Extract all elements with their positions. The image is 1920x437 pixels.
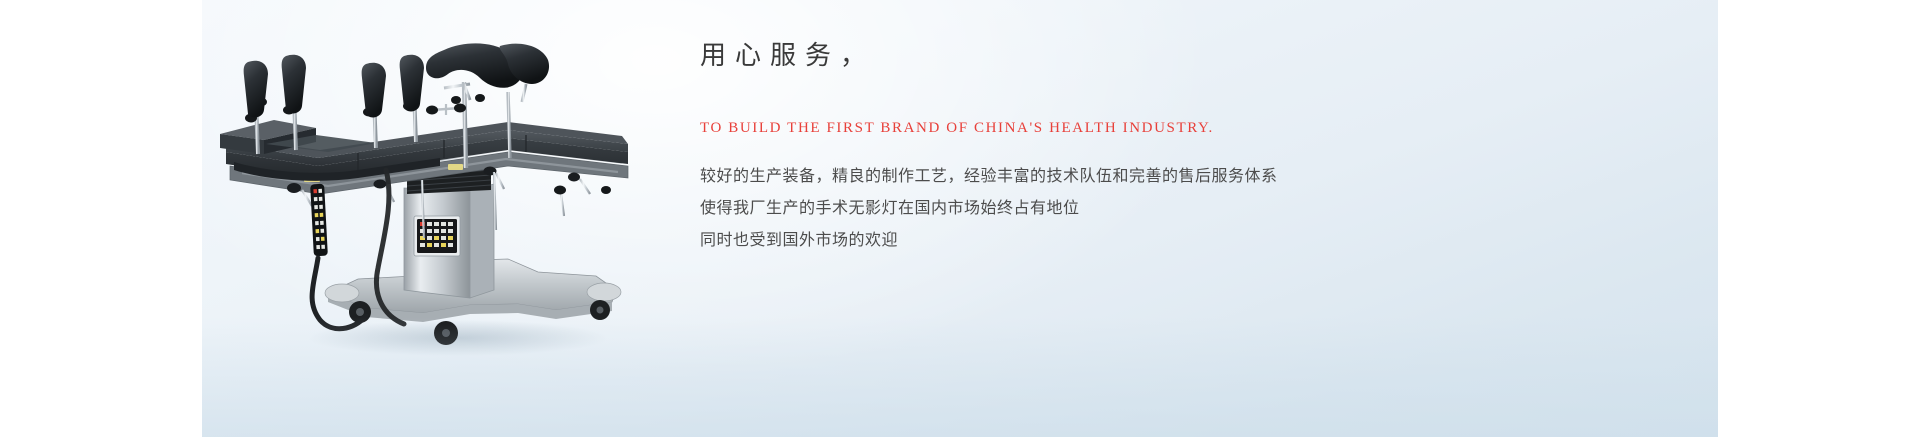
banner-body: 较好的生产装备，精良的制作工艺，经验丰富的技术队伍和完善的售后服务体系 使得我厂… [700,161,1620,257]
table-column [404,160,494,298]
rod-knobs [554,186,611,195]
body-line-3: 同时也受到国外市场的欢迎 [700,225,1620,257]
support-pad [244,61,268,118]
banner-tagline: TO BUILD THE FIRST BRAND OF CHINA'S HEAL… [700,120,1620,137]
support-pad [400,55,424,112]
hero-banner: 用心服务， TO BUILD THE FIRST BRAND OF CHINA'… [202,0,1718,437]
banner-page: 用心服务， TO BUILD THE FIRST BRAND OF CHINA'… [0,0,1920,437]
base-control-panel [414,216,460,256]
body-line-2: 使得我厂生产的手术无影灯在国内市场始终占有地位 [700,193,1620,225]
side-support-pads [244,55,424,118]
banner-copy: 用心服务， TO BUILD THE FIRST BRAND OF CHINA'… [700,40,1620,257]
operating-table-image [208,40,708,360]
leg-holders [426,43,549,102]
caster-wheel [590,300,610,320]
support-pad [282,55,306,114]
body-line-1: 较好的生产装备，精良的制作工艺，经验丰富的技术队伍和完善的售后服务体系 [700,161,1620,193]
knob-assembly [426,104,466,116]
caster-wheel [434,321,458,345]
banner-headline: 用心服务， [700,40,1620,71]
